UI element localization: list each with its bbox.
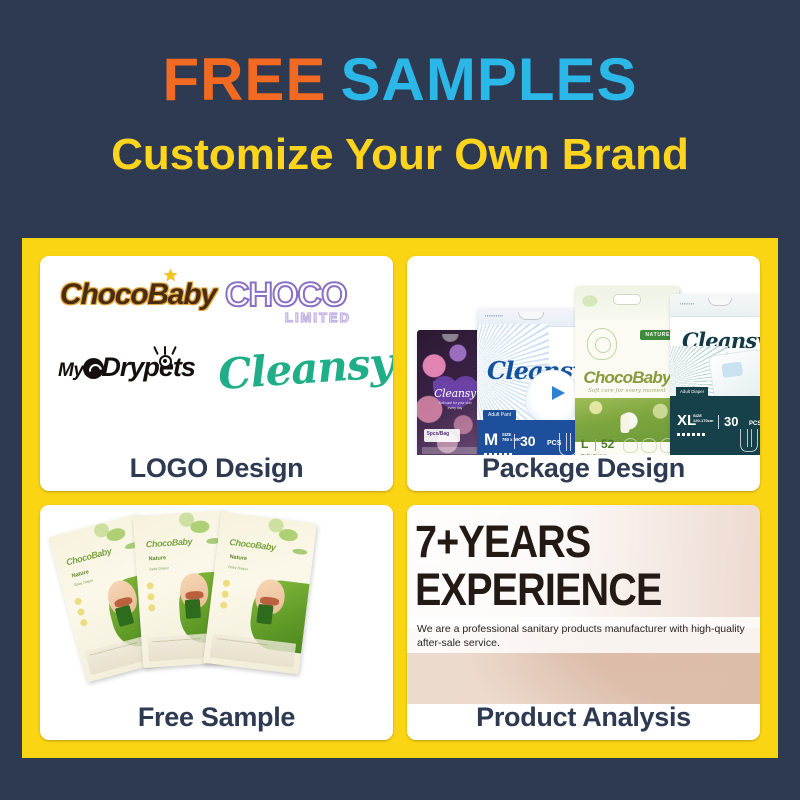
- pack-sub-label: Baby Diaper: [581, 453, 607, 455]
- pack-dot-strip: [484, 453, 514, 455]
- packet-bib-icon: [256, 604, 274, 625]
- yellow-frame: ChocoBaby ★ CHOCO LIMITED MyDrypets Clea…: [22, 238, 778, 758]
- experience-headline-line2: EXPERIENCE: [415, 567, 661, 612]
- pack-divider: [718, 415, 719, 429]
- experience-body-text: We are a professional sanitary products …: [417, 623, 752, 650]
- pack-pant-icon: [740, 429, 758, 452]
- pack-seal-icon: [587, 328, 617, 360]
- pack-feature-icons: [623, 438, 675, 455]
- drypets-logo: MyDrypets: [58, 352, 195, 383]
- pack-size: M: [484, 431, 498, 448]
- pack-arrow-icon: [552, 386, 565, 400]
- headline-secondary: Customize Your Own Brand: [0, 133, 800, 177]
- card-product-analysis[interactable]: 7+YEARS EXPERIENCE We are a professional…: [407, 505, 760, 740]
- drypets-prefix: My: [58, 360, 83, 381]
- pack-top-microtext: ▪▪▪▪▪▪▪▪▪▪: [485, 313, 503, 318]
- card-package-design[interactable]: Cleansy Soft care for your skin every da…: [407, 256, 760, 491]
- packet-dot-icons: [219, 579, 230, 613]
- chocobaby-logo: ChocoBaby: [60, 278, 216, 312]
- headline-primary: FREESAMPLES: [0, 50, 800, 110]
- packet-dot-icons: [147, 582, 156, 615]
- logo-collage: ChocoBaby ★ CHOCO LIMITED MyDrypets Clea…: [40, 256, 393, 455]
- poster-header: FREESAMPLES Customize Your Own Brand: [0, 0, 800, 238]
- pack-brand: ChocoBaby: [575, 368, 679, 388]
- package-cleansy-adult-diaper-xl: ▪▪▪▪▪▪▪▪ Cleansy Adult Diaper XL SIZE 12…: [670, 294, 760, 455]
- package-cleansy-adult-pant-m: ▪▪▪▪▪▪▪▪▪▪ Cleansy Adult Pant M SIZE 760…: [477, 308, 585, 455]
- card-caption-logo-design: LOGO Design: [40, 455, 393, 491]
- experience-headline-line1: 7+YEARS: [415, 519, 590, 564]
- packet-dot-icons: [74, 597, 89, 631]
- pouch-count-badge: 5pcs/Bag: [424, 429, 460, 442]
- pouch-footer-strip: [422, 447, 478, 454]
- pouch-hang-hole-icon: [442, 334, 459, 342]
- card-caption-package-design: Package Design: [407, 455, 760, 491]
- pack-count: 30: [724, 415, 738, 428]
- choco-limited-subtext: LIMITED: [285, 310, 351, 325]
- pouch-desc: Soft care for your skin every day: [437, 401, 473, 411]
- chocobaby-star-icon: ★: [163, 266, 178, 286]
- pack-size-meta-value: 120-170cm: [693, 418, 713, 423]
- pack-count-unit: PCS: [749, 421, 760, 427]
- packet-line2: Nature: [149, 555, 167, 562]
- package-lineup: Cleansy Soft care for your skin every da…: [407, 256, 760, 455]
- drypets-eye-icon: [159, 355, 172, 368]
- pack-baby-photo: [575, 398, 679, 442]
- pack-size: L: [581, 438, 588, 450]
- sample-packet-right: ChocoBaby Nature Baby Diaper: [203, 512, 317, 675]
- card-logo-design[interactable]: ChocoBaby ★ CHOCO LIMITED MyDrypets Clea…: [40, 256, 393, 491]
- sample-packets: ChocoBaby Nature Baby Diaper ChocoBaby N…: [40, 505, 393, 704]
- card-free-sample[interactable]: ChocoBaby Nature Baby Diaper ChocoBaby N…: [40, 505, 393, 740]
- pack-dot-strip: [677, 433, 707, 436]
- pack-divider: [595, 439, 596, 451]
- experience-banner: 7+YEARS EXPERIENCE We are a professional…: [407, 505, 760, 704]
- headline-free: FREE: [162, 46, 326, 113]
- pouch-heart-icon: Cleansy Soft care for your skin every da…: [433, 376, 477, 410]
- pack-product-photo: [708, 348, 760, 401]
- package-chocobaby-baby-diaper-l: NATURE ChocoBaby Soft care for every mom…: [575, 286, 679, 455]
- pack-top-microtext: ▪▪▪▪▪▪▪▪: [680, 301, 695, 306]
- feature-card-grid: ChocoBaby ★ CHOCO LIMITED MyDrypets Clea…: [22, 238, 778, 758]
- pack-count: 30: [520, 434, 536, 448]
- package-cleansy-pouch: Cleansy Soft care for your skin every da…: [417, 330, 483, 455]
- pack-type-label: Adult Pant: [483, 410, 516, 420]
- packet-bib-icon: [185, 599, 201, 620]
- headline-samples: SAMPLES: [340, 46, 637, 113]
- drypets-wordmark: Drypets: [101, 352, 195, 382]
- pack-tagline: Soft care for every moment: [575, 388, 679, 394]
- drypets-lash-icon: [153, 344, 179, 355]
- pack-divider: [514, 434, 515, 449]
- card-caption-free-sample: Free Sample: [40, 704, 393, 740]
- pack-count: 52: [601, 438, 614, 450]
- pack-handle-icon: [613, 294, 641, 305]
- pack-size-meta: SIZE 120-170cm: [693, 413, 713, 423]
- pack-handle-icon: [518, 312, 544, 320]
- pack-leaf-icon: [581, 291, 603, 311]
- card-caption-product-analysis: Product Analysis: [407, 704, 760, 740]
- pouch-brand: Cleansy: [433, 387, 477, 400]
- poster-canvas: FREESAMPLES Customize Your Own Brand Cho…: [0, 0, 800, 800]
- pack-type-label: Adult Diaper: [676, 387, 708, 396]
- cleansy-logo: Cleansy: [217, 338, 393, 399]
- pack-size-meta-label: SIZE: [502, 432, 511, 437]
- pack-size-meta-value: 760 x 590: [502, 437, 521, 442]
- pack-size-meta: SIZE 760 x 590: [502, 432, 521, 443]
